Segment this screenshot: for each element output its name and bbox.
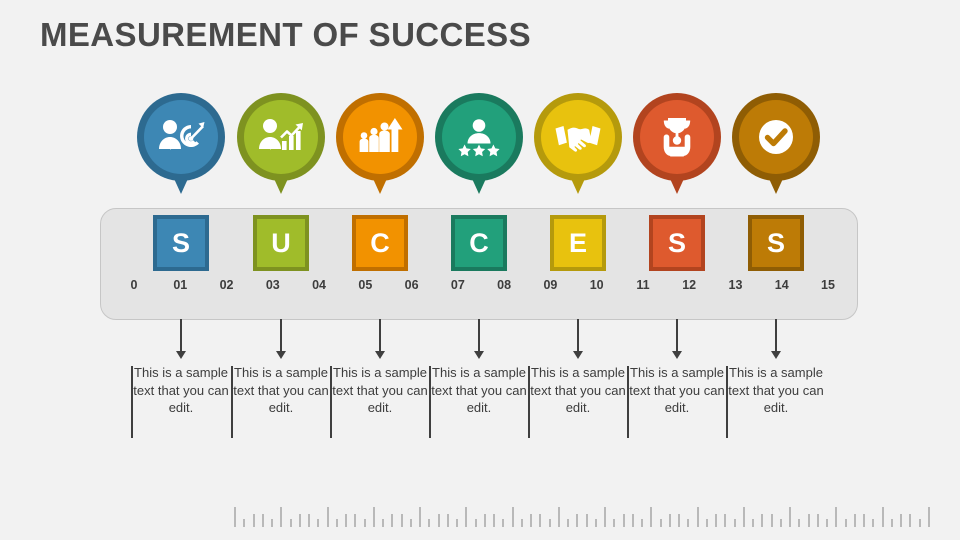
arrow-line-3 xyxy=(379,319,381,353)
ruler-tick xyxy=(345,514,347,527)
letter-box-2[interactable]: U xyxy=(253,215,309,271)
people-bar-growth-icon xyxy=(356,115,404,159)
ruler-tick xyxy=(586,514,588,527)
ruler-number-11: 11 xyxy=(623,278,663,292)
handshake-icon xyxy=(554,115,602,159)
arrow-head-3 xyxy=(375,351,385,359)
arrow-line-6 xyxy=(676,319,678,353)
pin-inner-disc xyxy=(541,100,615,174)
person-three-stars-icon xyxy=(455,115,503,159)
page-title: MEASUREMENT OF SUCCESS xyxy=(40,16,531,54)
letter-box-7[interactable]: S xyxy=(748,215,804,271)
ruler-tick xyxy=(780,519,782,527)
ruler-number-01: 01 xyxy=(160,278,200,292)
ruler-tick xyxy=(808,514,810,527)
ruler-tick xyxy=(928,507,930,527)
ruler-tick xyxy=(909,514,911,527)
ruler-tick xyxy=(410,519,412,527)
arrow-head-4 xyxy=(474,351,484,359)
ruler-number-09: 09 xyxy=(530,278,570,292)
ruler-tick xyxy=(752,519,754,527)
ruler-tick xyxy=(530,514,532,527)
ruler-number-05: 05 xyxy=(345,278,385,292)
ruler-number-10: 10 xyxy=(577,278,617,292)
letter-box-3[interactable]: C xyxy=(352,215,408,271)
ruler-tick xyxy=(604,507,606,527)
caption-divider xyxy=(330,366,332,438)
pin-marker-4[interactable] xyxy=(435,93,523,198)
ruler-number-03: 03 xyxy=(253,278,293,292)
pin-marker-1[interactable] xyxy=(137,93,225,198)
check-circle-icon xyxy=(752,115,800,159)
ruler-tick xyxy=(336,519,338,527)
ruler-tick xyxy=(771,514,773,527)
ruler-tick xyxy=(697,507,699,527)
ruler-tick xyxy=(872,519,874,527)
ruler-tick xyxy=(308,514,310,527)
ruler-tick xyxy=(382,519,384,527)
ruler-tick xyxy=(882,507,884,527)
caption-divider xyxy=(231,366,233,438)
ruler-tick xyxy=(660,519,662,527)
ruler-number-04: 04 xyxy=(299,278,339,292)
pin-head xyxy=(237,93,325,181)
ruler-tick xyxy=(891,519,893,527)
ruler-tick-marks xyxy=(234,505,930,527)
ruler-tick xyxy=(447,514,449,527)
ruler-tick xyxy=(271,519,273,527)
ruler-tick xyxy=(465,507,467,527)
ruler-tick xyxy=(817,514,819,527)
slide-canvas: MEASUREMENT OF SUCCESS xyxy=(0,0,960,540)
ruler-number-07: 07 xyxy=(438,278,478,292)
pin-head xyxy=(732,93,820,181)
pin-head xyxy=(137,93,225,181)
pin-marker-6[interactable]: 1 xyxy=(633,93,721,198)
caption-2: This is a sample text that you can edit. xyxy=(231,364,331,417)
ruler-tick xyxy=(715,514,717,527)
arrow-head-7 xyxy=(771,351,781,359)
ruler-number-12: 12 xyxy=(669,278,709,292)
ruler-tick xyxy=(456,519,458,527)
growth-chart-person-icon xyxy=(257,115,305,159)
ruler-tick xyxy=(835,507,837,527)
arrow-line-4 xyxy=(478,319,480,353)
ruler-tick xyxy=(364,519,366,527)
ruler-number-08: 08 xyxy=(484,278,524,292)
pin-marker-7[interactable] xyxy=(732,93,820,198)
ruler-tick xyxy=(253,514,255,527)
pin-inner-disc xyxy=(442,100,516,174)
letter-box-5[interactable]: E xyxy=(550,215,606,271)
ruler-tick xyxy=(290,519,292,527)
ruler-tick xyxy=(761,514,763,527)
ruler-number-15: 15 xyxy=(808,278,848,292)
ruler-tick xyxy=(632,514,634,527)
ruler-tick xyxy=(373,507,375,527)
pin-marker-row: 1 xyxy=(0,93,960,198)
caption-5: This is a sample text that you can edit. xyxy=(528,364,628,417)
arrow-head-5 xyxy=(573,351,583,359)
ruler-number-0: 0 xyxy=(114,278,154,292)
ruler-tick xyxy=(613,519,615,527)
ruler-tick xyxy=(327,507,329,527)
ruler-tick xyxy=(623,514,625,527)
ruler-tick xyxy=(650,507,652,527)
caption-7: This is a sample text that you can edit. xyxy=(726,364,826,417)
caption-divider xyxy=(627,366,629,438)
ruler-tick xyxy=(558,507,560,527)
caption-4: This is a sample text that you can edit. xyxy=(429,364,529,417)
ruler-tick xyxy=(919,519,921,527)
caption-6: This is a sample text that you can edit. xyxy=(627,364,727,417)
ruler-number-14: 14 xyxy=(762,278,802,292)
ruler-tick xyxy=(863,514,865,527)
ruler-tick xyxy=(687,519,689,527)
ruler-tick xyxy=(280,507,282,527)
trophy-hands-icon: 1 xyxy=(653,115,701,159)
pin-head xyxy=(534,93,622,181)
pin-marker-5[interactable] xyxy=(534,93,622,198)
svg-text:1: 1 xyxy=(674,119,680,131)
arrow-head-2 xyxy=(276,351,286,359)
ruler-tick xyxy=(317,519,319,527)
letter-box-1[interactable]: S xyxy=(153,215,209,271)
caption-divider xyxy=(429,366,431,438)
pin-head xyxy=(336,93,424,181)
ruler-tick xyxy=(419,507,421,527)
target-person-icon xyxy=(157,115,205,159)
ruler-tick xyxy=(428,519,430,527)
ruler-tick xyxy=(438,514,440,527)
pin-inner-disc xyxy=(739,100,813,174)
ruler-tick xyxy=(789,507,791,527)
ruler-tick xyxy=(234,507,236,527)
ruler-tick xyxy=(567,519,569,527)
ruler-tick xyxy=(262,514,264,527)
ruler-tick xyxy=(521,519,523,527)
arrow-head-6 xyxy=(672,351,682,359)
ruler-tick xyxy=(706,519,708,527)
ruler-tick xyxy=(549,519,551,527)
ruler-tick xyxy=(502,519,504,527)
ruler-tick xyxy=(493,514,495,527)
caption-divider xyxy=(726,366,728,438)
ruler-tick xyxy=(845,519,847,527)
ruler-number-02: 02 xyxy=(207,278,247,292)
ruler-tick xyxy=(354,514,356,527)
ruler-number-13: 13 xyxy=(715,278,755,292)
ruler-tick xyxy=(401,514,403,527)
arrow-head-1 xyxy=(176,351,186,359)
caption-divider xyxy=(528,366,530,438)
ruler-number-06: 06 xyxy=(392,278,432,292)
ruler-tick xyxy=(900,514,902,527)
caption-1: This is a sample text that you can edit. xyxy=(131,364,231,417)
ruler-tick xyxy=(243,519,245,527)
ruler-tick xyxy=(299,514,301,527)
arrow-line-2 xyxy=(280,319,282,353)
ruler-tick xyxy=(798,519,800,527)
ruler-tick xyxy=(484,514,486,527)
ruler-tick xyxy=(743,507,745,527)
ruler-tick xyxy=(854,514,856,527)
pin-marker-2[interactable] xyxy=(237,93,325,198)
ruler-tick xyxy=(576,514,578,527)
letter-box-4[interactable]: C xyxy=(451,215,507,271)
arrow-line-7 xyxy=(775,319,777,353)
ruler-tick xyxy=(734,519,736,527)
ruler-tick xyxy=(391,514,393,527)
ruler-tick xyxy=(724,514,726,527)
pin-marker-3[interactable] xyxy=(336,93,424,198)
pin-inner-disc xyxy=(343,100,417,174)
pin-head xyxy=(435,93,523,181)
ruler-tick xyxy=(678,514,680,527)
caption-3: This is a sample text that you can edit. xyxy=(330,364,430,417)
ruler-tick xyxy=(641,519,643,527)
caption-divider xyxy=(131,366,133,438)
ruler-tick xyxy=(595,519,597,527)
ruler-tick xyxy=(539,514,541,527)
ruler-tick xyxy=(669,514,671,527)
ruler-tick xyxy=(512,507,514,527)
pin-head: 1 xyxy=(633,93,721,181)
letter-box-6[interactable]: S xyxy=(649,215,705,271)
arrow-line-5 xyxy=(577,319,579,353)
ruler-tick xyxy=(475,519,477,527)
arrow-line-1 xyxy=(180,319,182,353)
pin-inner-disc xyxy=(144,100,218,174)
pin-inner-disc xyxy=(244,100,318,174)
pin-inner-disc: 1 xyxy=(640,100,714,174)
ruler-tick xyxy=(826,519,828,527)
